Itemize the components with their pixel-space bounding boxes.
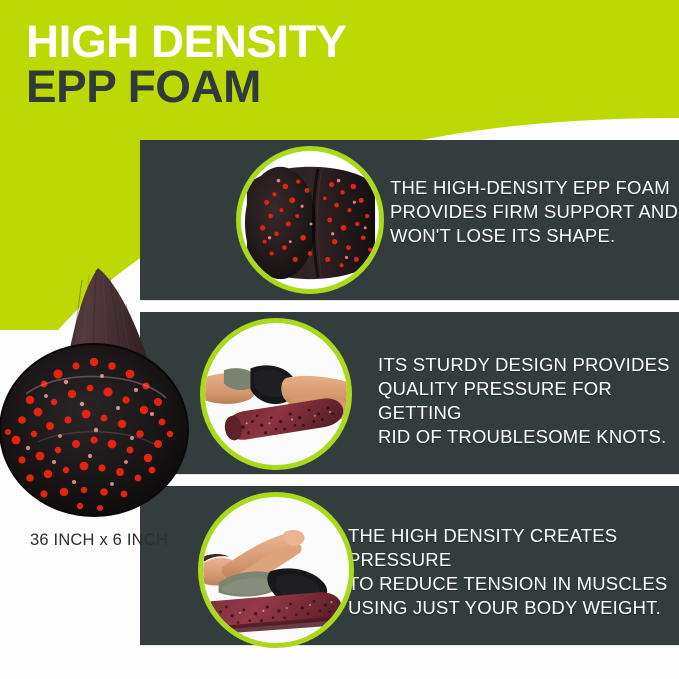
- page-title-line2: EPP FOAM: [26, 65, 556, 108]
- page-title-line1: HIGH DENSITY: [26, 20, 556, 63]
- hero-product-image: [0, 262, 226, 534]
- feature-text-1: THE HIGH-DENSITY EPP FOAM PROVIDES FIRM …: [390, 176, 678, 248]
- feature-text-2: ITS STURDY DESIGN PROVIDES QUALITY PRESS…: [378, 353, 679, 449]
- feature-text-3: THE HIGH DENSITY CREATES PRESSURE TO RED…: [348, 524, 679, 620]
- infographic-canvas: HIGH DENSITY EPP FOAM THE HIGH-DENSITY E…: [0, 0, 679, 679]
- feature-image-circle-1: [236, 146, 384, 294]
- product-size-caption: 36 INCH x 6 INCH: [30, 531, 168, 550]
- header-title-block: HIGH DENSITY EPP FOAM: [26, 20, 546, 108]
- foam-roller-texture-closeup-icon: [241, 151, 379, 289]
- person-rolling-legs-icon: [205, 323, 347, 465]
